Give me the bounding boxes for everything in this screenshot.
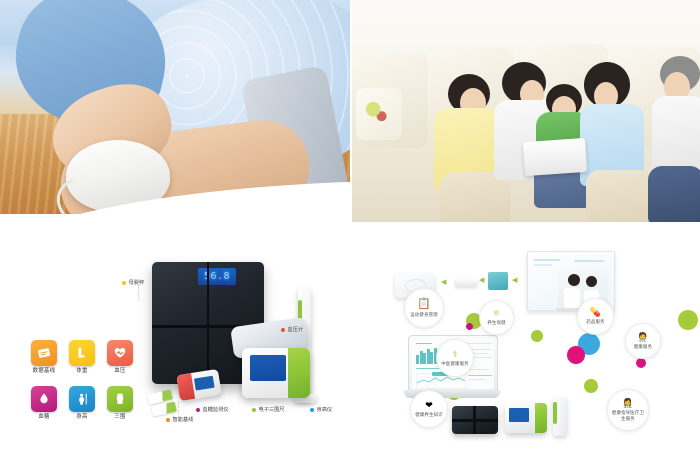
node-label: 健康养生知识	[413, 412, 445, 418]
flow-arrow-icon: ◀	[479, 277, 484, 284]
callout-height-meter: 身高仪	[310, 406, 332, 413]
nurse-icon: 👩‍⚕	[622, 399, 633, 408]
floral-pillow	[356, 88, 402, 140]
decorative-blob	[567, 346, 585, 364]
callout-dot	[281, 328, 285, 332]
node-label: 中医健康服务	[439, 361, 471, 367]
metric-label: 血糖	[38, 415, 49, 420]
metric-label: 血压	[114, 369, 125, 374]
node-health-service[interactable]: 🧑‍⚕ 健康服务	[625, 323, 661, 359]
bpm-screen	[250, 355, 286, 381]
clipboard-icon: 📋	[417, 299, 431, 310]
legs	[648, 166, 700, 222]
metric-blood-glucose[interactable]: 血糖	[26, 386, 62, 430]
flow-arrow-icon: ◀	[441, 279, 446, 286]
blood-pressure-monitor-small	[505, 403, 547, 433]
glucose-meter-screen	[194, 376, 215, 391]
body-fat-scale-small	[452, 406, 498, 434]
weight-scale-icon	[69, 340, 95, 366]
callout-leader-line	[178, 402, 179, 414]
callout-dot	[310, 408, 314, 412]
capsule-icon: 💊	[590, 308, 601, 317]
callout-tape-measure: 电子三围尺	[252, 406, 284, 413]
decorative-blob	[678, 310, 698, 330]
callout-label: 血压计	[288, 326, 304, 333]
callout-scale: 母婴秤	[122, 279, 144, 286]
callout-label: 智能基线	[173, 416, 194, 423]
node-medicine-service[interactable]: 💊 药品服务	[577, 298, 614, 335]
metric-weight[interactable]: 体重	[64, 340, 100, 384]
brochure-page: 56.8 LIFESENSE 母婴秤 血压计 血糖监测仪 智能基线 电子三围尺	[0, 0, 700, 472]
callout-baseline: 智能基线	[166, 416, 193, 423]
metric-label: 数据基线	[33, 369, 56, 374]
scale-weight-value: 56.8	[204, 272, 230, 282]
callout-leader-line	[138, 284, 139, 300]
decorative-blob	[636, 358, 646, 368]
metric-label: 体重	[76, 369, 87, 374]
wifi-router-device	[455, 278, 477, 287]
metric-body-measure[interactable]: 三围	[102, 386, 138, 430]
callout-bp-monitor: 血压计	[281, 326, 303, 333]
scale-display: 56.8	[198, 268, 236, 285]
node-label: 药品服务	[584, 319, 606, 325]
flow-arrow-icon: ◀	[512, 277, 517, 284]
callout-dot	[252, 408, 256, 412]
node-label: 健康服务	[632, 344, 654, 350]
blood-drop-icon	[31, 386, 57, 412]
metric-blood-pressure[interactable]: 血压	[102, 340, 138, 384]
node-label: 运动健身管理	[408, 312, 440, 318]
decorative-blob	[531, 330, 543, 342]
set-top-box-device	[488, 272, 508, 290]
metric-data-baseline[interactable]: 数据基线	[26, 340, 62, 384]
node-label: 健康指导医疗卫生服务	[608, 410, 648, 421]
node-health-knowledge[interactable]: ❤ 健康养生知识	[410, 390, 448, 428]
node-wellness[interactable]: ⚛ 养生保健	[479, 300, 514, 335]
metric-label: 身高	[76, 415, 87, 420]
callout-label: 身高仪	[317, 406, 333, 413]
blood-pressure-monitor-device	[242, 348, 310, 398]
body-measure-icon	[107, 386, 133, 412]
photo-wave-divider-fill	[0, 214, 350, 238]
decorative-blob	[584, 379, 598, 393]
callout-dot	[166, 418, 170, 422]
metric-label: 三围	[114, 415, 125, 420]
legs	[586, 170, 656, 222]
node-tcm-service[interactable]: ⚕ 中医健康服务	[436, 339, 474, 377]
node-fitness-management[interactable]: 📋 运动健身管理	[404, 288, 444, 328]
family-laptop-photo	[352, 0, 700, 222]
metric-height[interactable]: 身高	[64, 386, 100, 430]
node-label: 养生保健	[485, 320, 507, 326]
doctor-icon: 🧑‍⚕	[637, 333, 648, 342]
callout-label: 血糖监测仪	[203, 406, 229, 413]
molecule-icon: ⚛	[492, 309, 500, 318]
callout-dot	[196, 408, 200, 412]
callout-label: 电子三围尺	[259, 406, 285, 413]
caduceus-icon: ⚕	[453, 350, 458, 359]
height-person-icon	[69, 386, 95, 412]
glucose-meter-accent	[176, 373, 195, 401]
heart-pressure-icon	[107, 340, 133, 366]
callout-label: 母婴秤	[129, 279, 145, 286]
laptop	[523, 138, 587, 176]
bpm-accent-panel	[288, 348, 310, 398]
blood-pressure-measurement-photo	[0, 0, 350, 238]
height-meter-small	[553, 398, 567, 436]
decorative-blob	[466, 323, 473, 330]
heart-book-icon: ❤	[425, 401, 433, 410]
callout-glucose: 血糖监测仪	[196, 406, 228, 413]
data-baseline-icon	[31, 340, 57, 366]
metric-icon-grid: 数据基线 体重 血压 血糖 身高	[26, 340, 138, 430]
callout-dot	[122, 281, 126, 285]
node-medical-guidance[interactable]: 👩‍⚕ 健康指导医疗卫生服务	[607, 389, 649, 431]
